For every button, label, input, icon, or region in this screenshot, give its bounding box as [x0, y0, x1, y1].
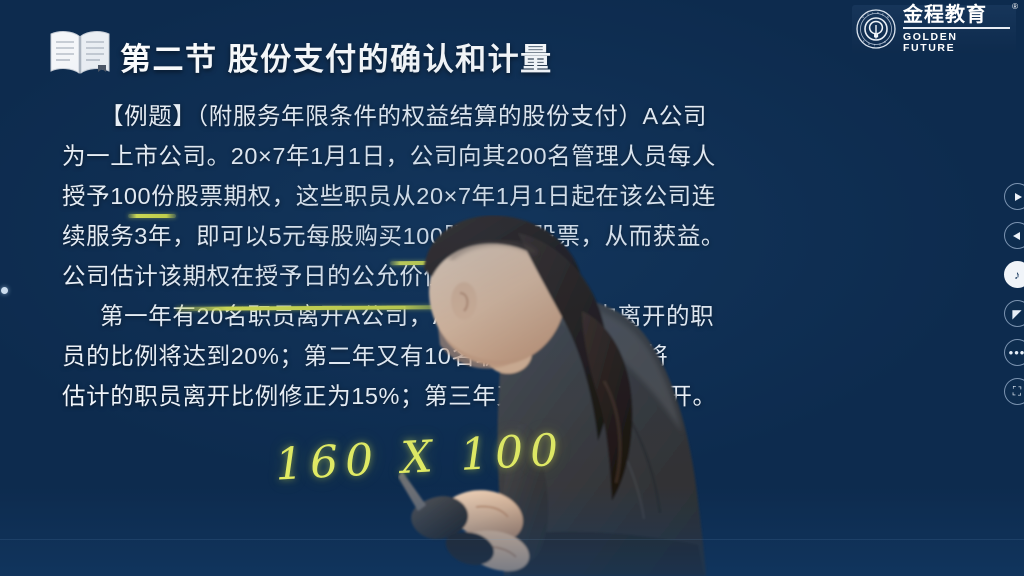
svg-text:G: G: [862, 15, 864, 19]
svg-text:U: U: [879, 43, 881, 47]
svg-text:R: R: [884, 40, 886, 44]
brand-emblem-icon: GO LD EN FU TU R: [856, 9, 896, 49]
svg-text:U: U: [868, 42, 870, 46]
svg-text:T: T: [874, 43, 876, 47]
slide-header: 第二节 股份支付的确认和计量 GO LD EN FU TU R: [0, 0, 1024, 88]
highlight-underline-1: [128, 214, 176, 218]
svg-text:E: E: [882, 12, 884, 16]
body-line-1: 【例题】（附服务年限条件的权益结算的股份支付）A公司: [62, 96, 752, 136]
player-icon-rail[interactable]: ♪ ◤ ••• ⛶: [997, 183, 1024, 405]
registered-mark: ®: [1012, 3, 1019, 11]
bookmark-icon[interactable]: ◤: [1004, 300, 1024, 327]
body-line-3: 授予100份股票期权，这些职员从20×7年1月1日起在该公司连: [62, 176, 752, 216]
open-book-icon: [46, 27, 114, 77]
bottom-divider: [0, 539, 1024, 540]
svg-text:N: N: [887, 15, 889, 19]
slide-stage: 【例题】（附服务年限条件的权益结算的股份支付）A公司 为一上市公司。20×7年1…: [0, 0, 1024, 576]
page-title: 第二节 股份支付的确认和计量: [120, 34, 553, 79]
brand-logo: GO LD EN FU TU R 金程教育 ® GOLDEN FUTURE: [852, 5, 1016, 53]
brand-name-en: GOLDEN FUTURE: [903, 32, 1010, 53]
svg-text:D: D: [877, 11, 879, 15]
brand-text-block: 金程教育 ® GOLDEN FUTURE: [903, 5, 1010, 53]
mute-icon[interactable]: ♪: [1004, 261, 1024, 288]
brand-name-cn: 金程教育 ®: [903, 5, 1010, 29]
next-arrow-icon[interactable]: [1004, 183, 1024, 210]
body-line-2: 为一上市公司。20×7年1月1日，公司向其200名管理人员每人: [62, 136, 752, 176]
brand-name-cn-label: 金程教育: [903, 4, 987, 26]
svg-text:L: L: [872, 11, 874, 15]
more-options-icon[interactable]: •••: [1004, 339, 1024, 366]
fullscreen-icon[interactable]: ⛶: [1004, 378, 1024, 405]
presenter-figure: [398, 215, 728, 576]
previous-arrow-icon[interactable]: [1004, 222, 1024, 249]
svg-text:O: O: [867, 12, 869, 16]
left-edge-indicator[interactable]: [1, 287, 8, 294]
